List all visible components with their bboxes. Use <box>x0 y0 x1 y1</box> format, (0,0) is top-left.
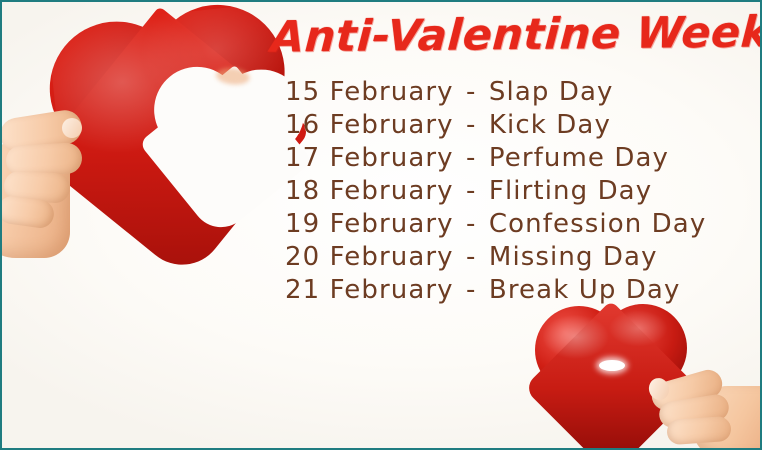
anti-valentine-day-list: 15 February - Slap Day 16 February - Kic… <box>285 76 762 307</box>
heart-cutout-icon <box>142 59 309 244</box>
right-hand-icon <box>645 370 762 450</box>
list-item: 19 February - Confession Day <box>285 208 762 241</box>
day-date: 21 February <box>285 275 454 305</box>
anti-valentine-week-poster: Anti-Valentine Week 15 February - Slap D… <box>0 0 762 450</box>
day-separator: - <box>463 176 479 206</box>
day-date: 20 February <box>285 242 454 272</box>
list-item: 16 February - Kick Day <box>285 109 762 142</box>
right-hand-finger-3 <box>666 416 732 445</box>
day-date: 16 February <box>285 110 454 140</box>
list-item: 20 February - Missing Day <box>285 241 762 274</box>
day-label: Slap Day <box>489 77 614 107</box>
day-date: 18 February <box>285 176 454 206</box>
day-date: 19 February <box>285 209 454 239</box>
day-label: Flirting Day <box>489 176 652 206</box>
day-label: Perfume Day <box>489 143 669 173</box>
day-date: 17 February <box>285 143 454 173</box>
right-artwork <box>507 298 762 450</box>
day-separator: - <box>463 209 479 239</box>
day-label: Missing Day <box>489 242 658 272</box>
left-hand-icon <box>0 114 96 259</box>
day-label: Kick Day <box>489 110 611 140</box>
left-artwork <box>2 2 302 262</box>
day-separator: - <box>463 242 479 272</box>
list-item: 15 February - Slap Day <box>285 76 762 109</box>
day-separator: - <box>463 143 479 173</box>
list-item: 18 February - Flirting Day <box>285 175 762 208</box>
list-item: 17 February - Perfume Day <box>285 142 762 175</box>
left-hand-fingernail <box>62 118 82 138</box>
poster-title: Anti-Valentine Week <box>286 2 755 69</box>
day-separator: - <box>463 77 479 107</box>
day-label: Confession Day <box>489 209 706 239</box>
day-date: 15 February <box>285 77 454 107</box>
glossy-heart-highlight <box>599 360 625 371</box>
day-separator: - <box>463 110 479 140</box>
day-separator: - <box>463 275 479 305</box>
